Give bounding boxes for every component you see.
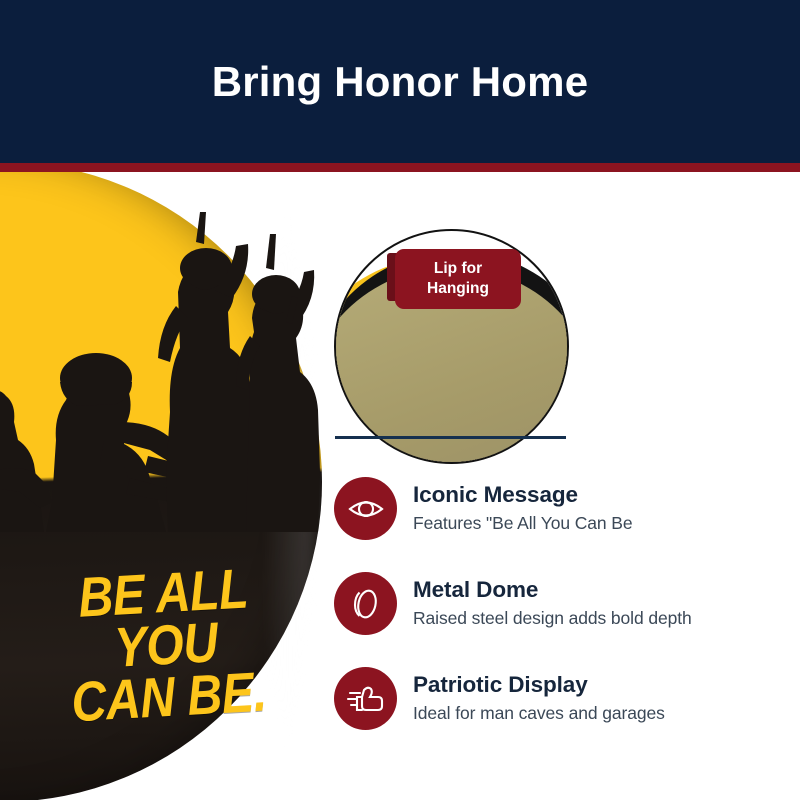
feature-item-patriotic-display: Patriotic Display Ideal for man caves an… xyxy=(334,667,794,730)
feature-title: Metal Dome xyxy=(413,577,692,604)
feature-item-iconic-message: Iconic Message Features "Be All You Can … xyxy=(334,477,794,540)
header-accent-rule xyxy=(0,163,800,172)
feature-description: Raised steel design adds bold depth xyxy=(413,607,692,630)
feature-text-block: Iconic Message Features "Be All You Can … xyxy=(413,482,633,534)
feature-title: Iconic Message xyxy=(413,482,633,509)
soldier-silhouettes xyxy=(0,172,322,532)
sign-slogan-line-3: CAN BE. xyxy=(59,665,278,729)
page-title: Bring Honor Home xyxy=(212,61,589,103)
detail-inset: Lip for Hanging xyxy=(334,229,569,464)
header-banner: Bring Honor Home xyxy=(0,0,800,163)
feature-description: Ideal for man caves and garages xyxy=(413,702,665,725)
callout-badge: Lip for Hanging xyxy=(395,249,521,309)
eye-icon xyxy=(334,477,397,540)
right-content-column: Lip for Hanging Iconic Message Features … xyxy=(322,172,800,800)
dome-ellipse-icon xyxy=(334,572,397,635)
feature-text-block: Metal Dome Raised steel design adds bold… xyxy=(413,577,692,629)
feature-title: Patriotic Display xyxy=(413,672,665,699)
sign-slogan: BE ALL YOU CAN BE. xyxy=(36,560,296,730)
infographic-page: Bring Honor Home xyxy=(0,0,800,800)
product-photo: BE ALL YOU CAN BE. xyxy=(0,172,322,800)
feature-description: Features "Be All You Can Be xyxy=(413,512,633,535)
feature-item-metal-dome: Metal Dome Raised steel design adds bold… xyxy=(334,572,794,635)
feature-list: Iconic Message Features "Be All You Can … xyxy=(334,477,794,762)
feature-text-block: Patriotic Display Ideal for man caves an… xyxy=(413,672,665,724)
thumbs-up-icon xyxy=(334,667,397,730)
section-divider xyxy=(335,436,566,439)
